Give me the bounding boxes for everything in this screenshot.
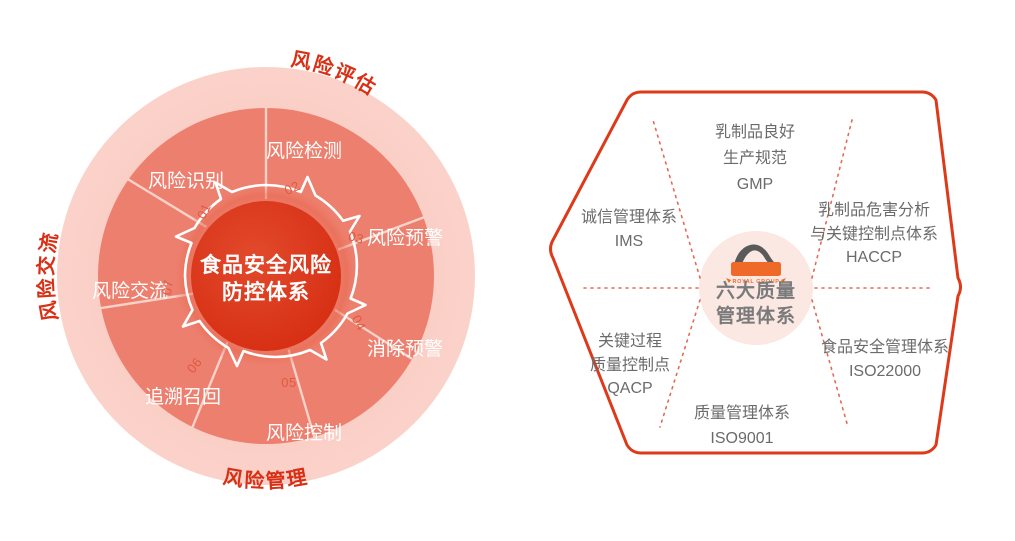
hexagon-item-lower-left-line2: 质量控制点 <box>590 356 670 374</box>
hexagon-item-lower-left[interactable]: 关键过程 质量控制点 QACP <box>590 332 670 397</box>
hexagon-item-upper-left[interactable]: 诚信管理体系 IMS <box>581 208 677 250</box>
diagram-canvas: 食品安全风险 防控体系 风险识别 风险检测 风险预警 消除预警 风险控制 追溯召… <box>0 0 1015 541</box>
full-figure: 食品安全风险 防控体系 风险识别 风险检测 风险预警 消除预警 风险控制 追溯召… <box>0 0 1015 541</box>
logo-name-cn: 皇氏集团 <box>732 262 780 277</box>
quality-systems-hexagon: 皇氏集团 ROYAL GROUP 六大质量 管理体系 乳制品良好 生产规范 GM… <box>551 92 961 453</box>
risk-control-wheel: 食品安全风险 防控体系 风险识别 风险检测 风险预警 消除预警 风险控制 追溯召… <box>34 49 475 493</box>
hexagon-item-top[interactable]: 乳制品良好 生产规范 GMP <box>715 123 795 193</box>
hexagon-item-lower-right[interactable]: 食品安全管理体系 ISO22000 <box>821 338 949 380</box>
wheel-segment-label-05[interactable]: 风险控制 <box>266 422 342 444</box>
wheel-segment-label-07[interactable]: 风险交流 <box>92 280 168 302</box>
hexagon-item-lower-right-line1: 食品安全管理体系 <box>821 338 949 356</box>
hexagon-item-upper-left-line1: 诚信管理体系 <box>581 208 677 226</box>
hexagon-item-upper-right-line1: 乳制品危害分析 <box>818 201 930 219</box>
hexagon-item-bottom-line2: ISO9001 <box>710 430 773 447</box>
wheel-segment-label-03[interactable]: 风险预警 <box>367 227 443 249</box>
hexagon-item-bottom-line1: 质量管理体系 <box>694 404 790 422</box>
hexagon-item-top-line1: 乳制品良好 <box>715 123 795 141</box>
wheel-segment-label-02[interactable]: 风险检测 <box>266 140 342 162</box>
hexagon-center-title-line1: 六大质量 <box>716 279 796 302</box>
hexagon-item-upper-left-line2: IMS <box>615 233 643 250</box>
hexagon-item-upper-right[interactable]: 乳制品危害分析 与关键控制点体系 HACCP <box>810 201 938 266</box>
hexagon-item-lower-left-line1: 关键过程 <box>598 332 662 350</box>
wheel-segment-label-04[interactable]: 消除预警 <box>367 338 443 360</box>
hexagon-item-lower-right-line2: ISO22000 <box>849 363 921 380</box>
wheel-segment-label-01[interactable]: 风险识别 <box>148 170 224 192</box>
wheel-core-title-line1: 食品安全风险 <box>200 253 332 277</box>
hexagon-center-title-line2: 管理体系 <box>716 304 796 327</box>
hexagon-item-bottom[interactable]: 质量管理体系 ISO9001 <box>694 404 790 447</box>
hexagon-item-upper-right-line3: HACCP <box>846 249 902 266</box>
wheel-segment-number-05: 05 <box>281 375 296 390</box>
wheel-segment-label-06[interactable]: 追溯召回 <box>145 386 221 408</box>
hexagon-item-top-line3: GMP <box>737 176 773 193</box>
hexagon-item-upper-right-line2: 与关键控制点体系 <box>810 225 938 243</box>
wheel-segment-number-07: 07 <box>159 279 176 296</box>
hexagon-item-lower-left-line3: QACP <box>607 380 652 397</box>
wheel-core-title-line2: 防控体系 <box>222 280 310 304</box>
hexagon-item-top-line2: 生产规范 <box>723 149 787 167</box>
